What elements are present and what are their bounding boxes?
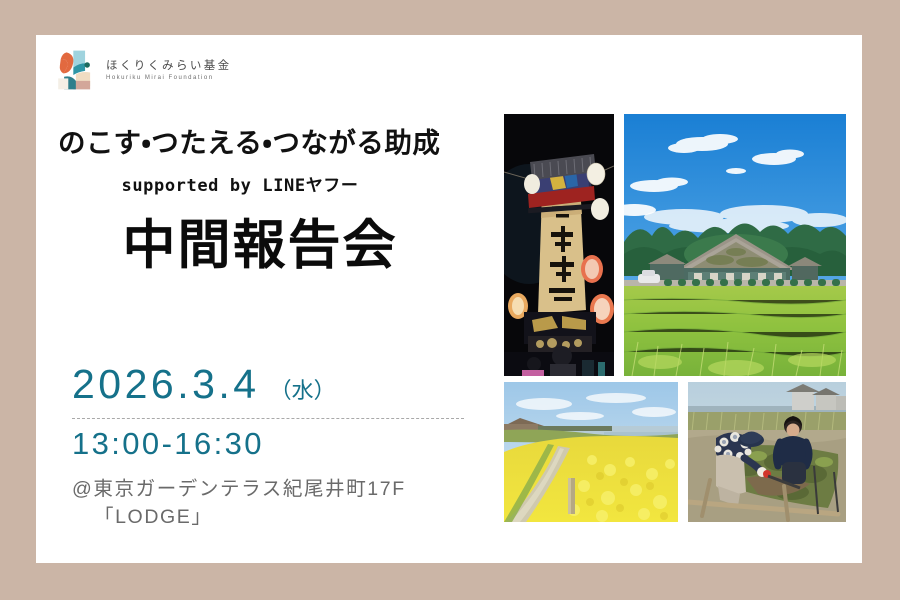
photo-community-farming-volunteers <box>688 382 846 522</box>
foundation-name-en: Hokuriku Mirai Foundation <box>106 75 232 81</box>
event-date-row: 2026.3.4 （水） <box>72 363 492 406</box>
photo-grid <box>504 114 846 524</box>
supported-by-label: supported by LINEヤフー <box>58 171 514 196</box>
title-block: のこす・つたえる・つながる助成 supported by LINEヤフー 中間報… <box>58 127 514 273</box>
event-venue: @東京ガーデンテラス紀尾井町17F 「LODGE」 <box>72 475 492 532</box>
photo-canola-field-seaside <box>504 382 678 522</box>
photo-thatched-roof-farmhouse <box>624 114 846 376</box>
event-day-of-week: （水） <box>270 373 336 405</box>
event-venue-line1: @東京ガーデンテラス紀尾井町17F <box>72 475 492 503</box>
foundation-logo-text: ほくりくみらい基金 Hokuriku Mirai Foundation <box>106 59 232 82</box>
event-venue-line2: 「LODGE」 <box>72 503 492 531</box>
event-time: 13:00-16:30 <box>72 427 492 461</box>
event-title: 中間報告会 <box>58 218 514 274</box>
poster-root: ほくりくみらい基金 Hokuriku Mirai Foundation のこす・… <box>0 0 900 600</box>
program-title: のこす・つたえる・つながる助成 <box>58 127 514 159</box>
foundation-logo: ほくりくみらい基金 Hokuriku Mirai Foundation <box>54 49 232 91</box>
foundation-logo-mark-icon <box>54 49 96 91</box>
event-date: 2026.3.4 <box>72 363 260 406</box>
photo-festival-kiriko-lantern <box>504 114 614 376</box>
event-details-block: 2026.3.4 （水） 13:00-16:30 @東京ガーデンテラス紀尾井町1… <box>72 363 492 532</box>
details-divider <box>72 418 464 419</box>
poster-white-panel: ほくりくみらい基金 Hokuriku Mirai Foundation のこす・… <box>36 35 862 563</box>
foundation-name-jp: ほくりくみらい基金 <box>106 61 232 73</box>
